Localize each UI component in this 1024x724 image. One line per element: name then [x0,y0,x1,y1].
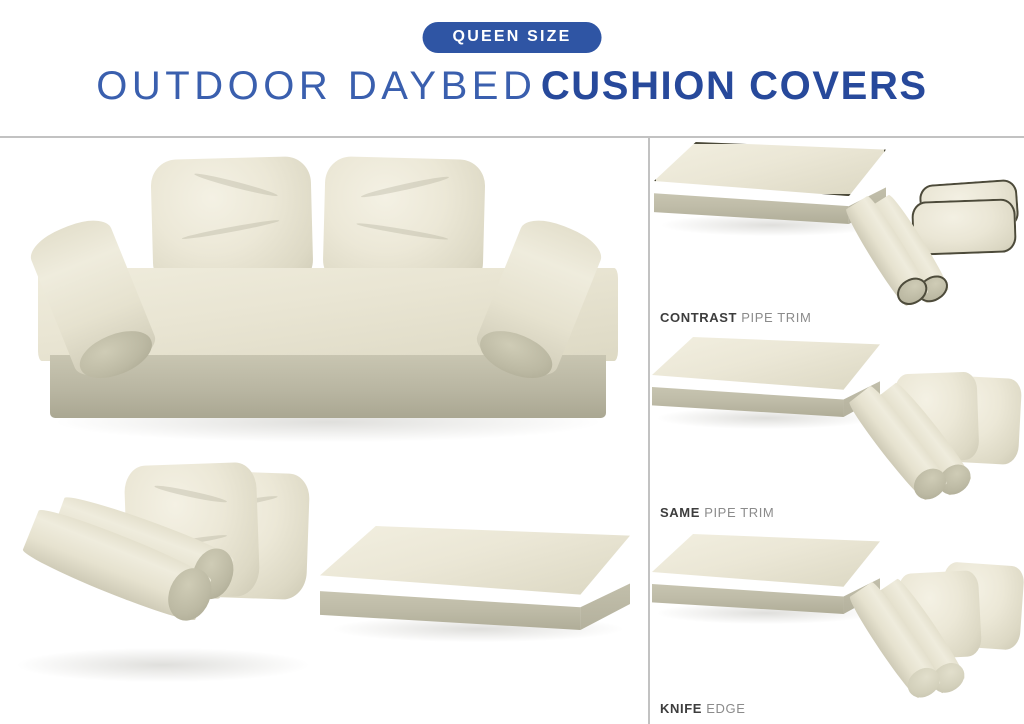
slab-top-face [652,337,880,390]
variant-label-same-pipe-trim: SAME PIPE TRIM [660,505,774,520]
variant-label-strong: KNIFE [660,701,702,716]
slab-top-face [654,142,886,196]
variant-panel-contrast-pipe-trim: CONTRAST PIPE TRIM [648,138,1024,333]
group-shadow [18,648,308,682]
variant-label-knife-edge: KNIFE EDGE [660,701,745,716]
page-title: OUTDOOR DAYBED CUSHION COVERS [0,66,1024,106]
slab-top-face [320,526,630,595]
mattress-only-photo [312,520,642,650]
mattress-slab [320,526,630,630]
variant-label-contrast-pipe-trim: CONTRAST PIPE TRIM [660,310,811,325]
left-region [0,138,648,724]
main-daybed-photo [28,150,628,440]
variant-panel-knife-edge: KNIFE EDGE [648,528,1024,724]
product-marketing-sheet: QUEEN SIZE OUTDOOR DAYBED CUSHION COVERS [0,0,1024,724]
variant-panel-same-pipe-trim: SAME PIPE TRIM [648,333,1024,528]
cushion-components-group [8,458,318,698]
variant-label-weak: PIPE TRIM [741,310,811,325]
slab-top-face [652,534,880,587]
variant-label-strong: CONTRAST [660,310,737,325]
page-title-light: OUTDOOR DAYBED [96,64,536,108]
variant-label-weak: PIPE TRIM [704,505,774,520]
variant-mattress-knife [652,534,880,614]
size-badge: QUEEN SIZE [423,22,602,53]
variant-label-strong: SAME [660,505,700,520]
variant-label-weak: EDGE [706,701,745,716]
variants-region: CONTRAST PIPE TRIM [648,138,1024,724]
header: QUEEN SIZE OUTDOOR DAYBED CUSHION COVERS [0,0,1024,136]
page-title-bold: CUSHION COVERS [541,64,928,108]
